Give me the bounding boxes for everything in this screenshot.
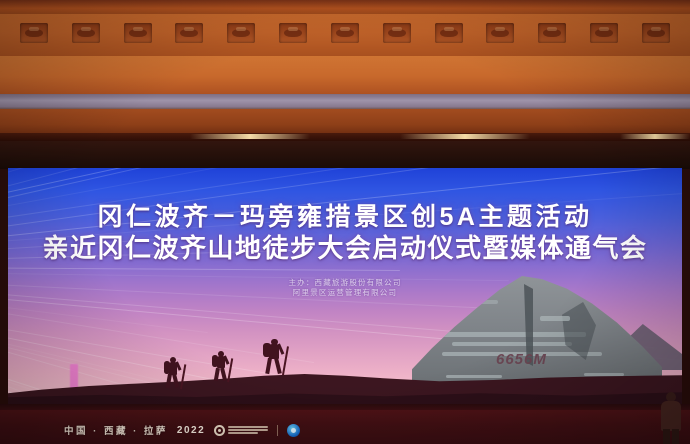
hiker-backpack — [263, 343, 270, 357]
wall-lavender-stripe — [0, 94, 690, 110]
attendee-silhouette — [658, 392, 684, 444]
screen-top-bezel — [0, 141, 690, 169]
blue-circle-logo-icon — [287, 424, 300, 437]
ceiling-ornament-row — [0, 23, 690, 47]
ceiling-ornament — [20, 23, 48, 43]
event-title-line-2: 亲近冈仁波齐山地徒步大会启动仪式暨媒体通气会 — [8, 232, 682, 265]
ceiling-ornament — [175, 23, 203, 43]
ceiling-light-glow — [190, 134, 310, 139]
footer-content-row: 中国 · 西藏 · 拉萨 2022 — [64, 423, 300, 437]
sky-streak — [8, 168, 532, 201]
logo-ring-icon — [214, 425, 225, 436]
wall-rail — [0, 133, 690, 141]
screen-pixel-artifact — [70, 364, 78, 390]
sky-streak — [8, 267, 400, 271]
photo-of-event-stage: 6656M 冈仁波齐－玛旁雍措景区创5A主题活动 亲近冈仁波齐山地徒步大会启动仪… — [0, 0, 690, 444]
sponsor-block: 主办：西藏旅游股份有限公司 阿里景区运营管理有限公司 — [8, 278, 682, 298]
hiker-backpack — [212, 355, 218, 367]
ceiling-ornament — [72, 23, 100, 43]
footer-divider — [277, 425, 278, 436]
ceiling-ornament — [435, 23, 463, 43]
hiker-leg — [220, 367, 227, 381]
sponsor-line-2: 阿里景区运营管理有限公司 — [8, 288, 682, 298]
ceiling-ornament — [124, 23, 152, 43]
attendee-leg — [663, 429, 670, 444]
ceiling-ornament — [279, 23, 307, 43]
hiker-leg — [213, 367, 219, 381]
hiker-leg — [165, 374, 171, 388]
screen-title-block: 冈仁波齐－玛旁雍措景区创5A主题活动 亲近冈仁波齐山地徒步大会启动仪式暨媒体通气… — [8, 202, 682, 265]
hiker-backpack — [164, 361, 170, 374]
ceiling-ornament — [331, 23, 359, 43]
ceiling-ornament — [538, 23, 566, 43]
ceiling-ornament — [227, 23, 255, 43]
hiker-leg — [172, 374, 179, 388]
ceiling-ornament — [590, 23, 618, 43]
ceiling-light-glow — [620, 134, 690, 139]
ceiling-ornament — [383, 23, 411, 43]
wall-lower — [0, 109, 690, 135]
footer-year: 2022 — [177, 425, 205, 436]
wall-upper — [0, 56, 690, 96]
peak-elevation-label: 6656M — [496, 351, 547, 368]
led-screen: 6656M 冈仁波齐－玛旁雍措景区创5A主题活动 亲近冈仁波齐山地徒步大会启动仪… — [8, 168, 682, 416]
attendee-body — [661, 401, 681, 431]
hiker-leg — [274, 358, 282, 374]
footer-city-line: 中国 · 西藏 · 拉萨 — [64, 423, 168, 437]
ceiling-light-glow — [400, 134, 530, 139]
sponsor-line-1: 主办：西藏旅游股份有限公司 — [8, 278, 682, 288]
attendee-leg — [672, 429, 679, 444]
ceiling-ornament — [642, 23, 670, 43]
tibet-tourism-logo — [214, 425, 268, 436]
hiker-silhouette-group — [160, 340, 320, 390]
hiker-leg — [266, 358, 273, 374]
logo-wordmark — [228, 426, 268, 434]
ceiling-top-trim — [0, 0, 690, 14]
sky-streak — [8, 168, 421, 195]
ceiling-ornament — [486, 23, 514, 43]
event-title-line-1: 冈仁波齐－玛旁雍措景区创5A主题活动 — [8, 202, 682, 232]
